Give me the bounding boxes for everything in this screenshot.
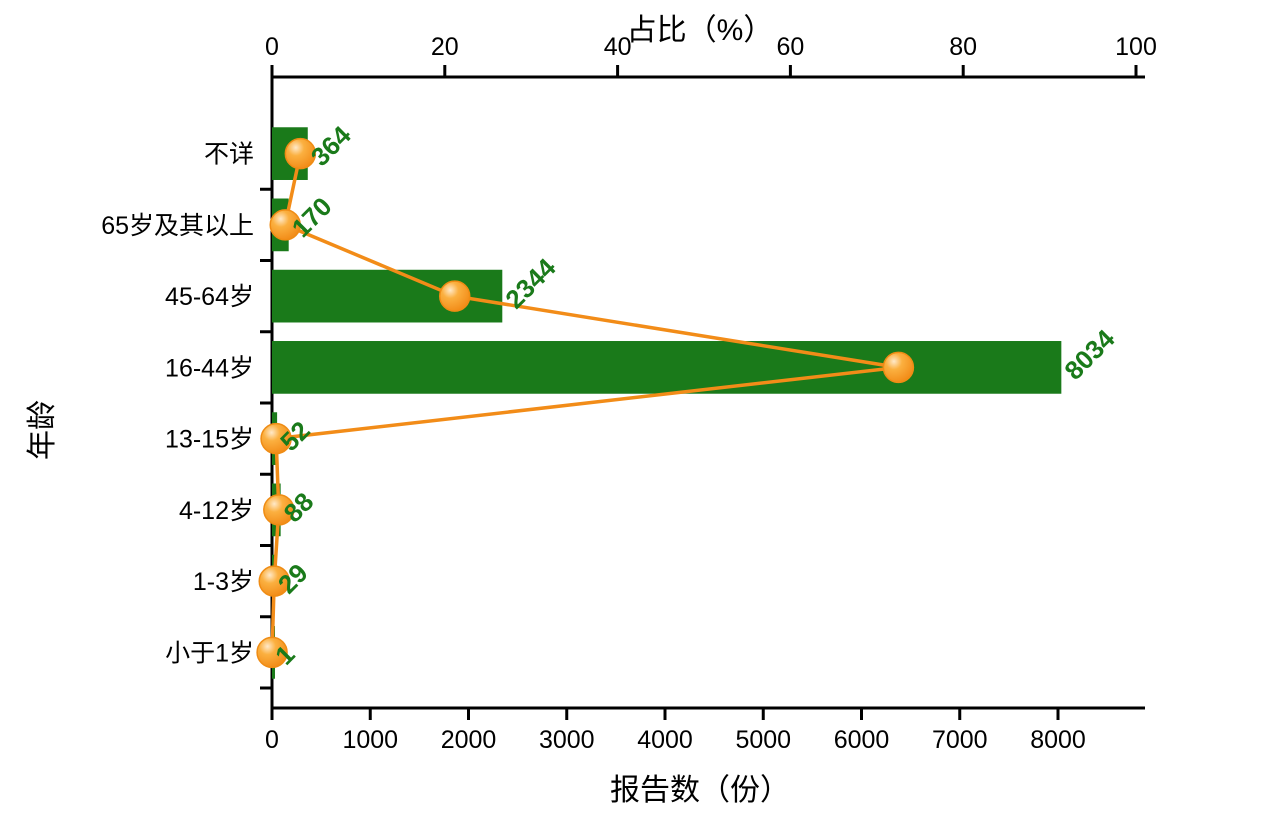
top-tick-label: 20 xyxy=(431,33,459,61)
bottom-tick-label: 6000 xyxy=(834,726,890,754)
bottom-tick-label: 2000 xyxy=(441,726,497,754)
line-marker xyxy=(440,281,470,311)
y-category-label: 不详 xyxy=(204,141,254,169)
bottom-tick-label: 4000 xyxy=(637,726,693,754)
bar xyxy=(272,341,1061,394)
y-category-label: 小于1岁 xyxy=(165,639,254,667)
bottom-tick-label: 8000 xyxy=(1030,726,1086,754)
bottom-tick-label: 3000 xyxy=(539,726,595,754)
y-category-label: 1-3岁 xyxy=(193,568,254,596)
y-category-label: 45-64岁 xyxy=(165,283,254,311)
y-category-label: 13-15岁 xyxy=(165,426,254,454)
chart-canvas: 占比（%） 报告数（份） 年龄 020406080100 01000200030… xyxy=(0,0,1269,821)
age-distribution-chart: 占比（%） 报告数（份） 年龄 020406080100 01000200030… xyxy=(0,0,1269,821)
top-tick-label: 100 xyxy=(1115,33,1157,61)
top-axis-title: 占比（%） xyxy=(627,14,774,47)
y-category-label: 4-12岁 xyxy=(179,497,254,525)
bottom-tick-label: 1000 xyxy=(342,726,398,754)
bottom-tick-label: 5000 xyxy=(735,726,791,754)
bottom-axis-title: 报告数（份） xyxy=(610,774,790,807)
y-category-label: 65岁及其以上 xyxy=(101,212,254,240)
top-tick-label: 40 xyxy=(604,33,632,61)
top-tick-label: 80 xyxy=(949,33,977,61)
y-category-label: 16-44岁 xyxy=(165,354,254,382)
chart-background xyxy=(0,0,1269,821)
line-marker xyxy=(883,352,913,382)
top-tick-label: 60 xyxy=(776,33,804,61)
y-axis-title: 年龄 xyxy=(26,400,59,460)
bottom-tick-label: 7000 xyxy=(932,726,988,754)
bottom-tick-label: 0 xyxy=(265,726,279,754)
top-tick-label: 0 xyxy=(265,33,279,61)
